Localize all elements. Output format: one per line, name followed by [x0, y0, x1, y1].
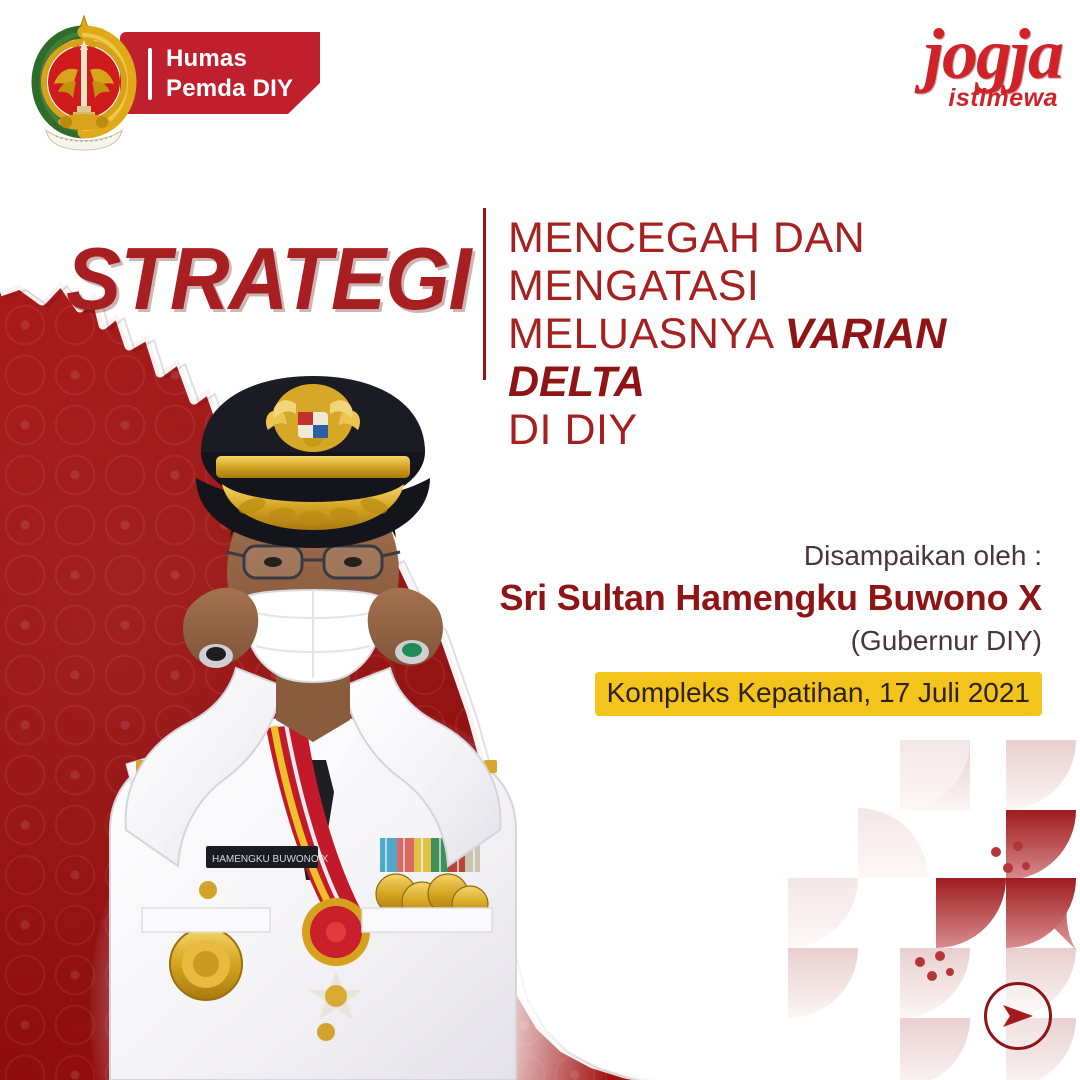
- jogja-istimewa-logo: jogja istimewa: [924, 22, 1062, 113]
- subtitle-line-2-prefix: MELUASNYA: [508, 310, 785, 358]
- governor-illustration: HAMENGKU BUWONO X: [30, 360, 590, 1080]
- jogja-wordmark: jogja: [924, 22, 1062, 86]
- play-arrow-button[interactable]: [984, 982, 1052, 1050]
- poster-canvas: Humas Pemda DIY jogja i: [0, 0, 1080, 1080]
- subtitle-line-1: MENCEGAH DAN MENGATASI: [508, 214, 1068, 310]
- badge-line-1: Humas: [166, 44, 293, 74]
- badge-line-2: Pemda DIY: [166, 74, 293, 104]
- subtitle-line-3: DI DIY: [508, 406, 1068, 454]
- page-title: STRATEGI: [66, 228, 471, 330]
- diy-coat-of-arms-icon: [28, 12, 140, 152]
- subtitle: MENCEGAH DAN MENGATASI MELUASNYA VARIAN …: [508, 214, 1068, 454]
- governor-photo: HAMENGKU BUWONO X: [30, 360, 590, 1080]
- badge-label: Humas Pemda DIY: [166, 44, 293, 104]
- play-arrow-icon: [1001, 1002, 1035, 1030]
- title-divider: [483, 208, 486, 380]
- subtitle-line-2: MELUASNYA VARIAN DELTA: [508, 310, 1068, 406]
- svg-text:HAMENGKU BUWONO X: HAMENGKU BUWONO X: [212, 854, 328, 865]
- badge-divider: [148, 48, 152, 100]
